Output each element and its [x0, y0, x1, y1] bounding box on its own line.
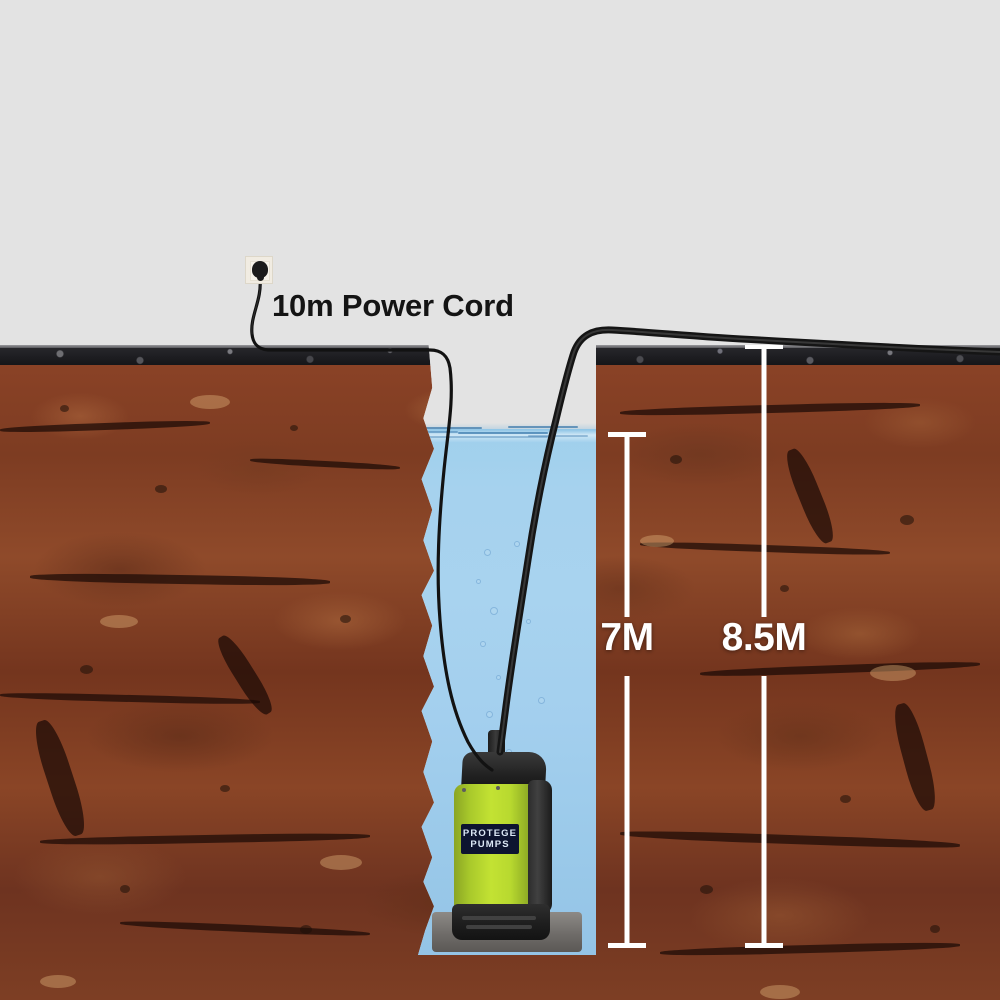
- brand-line-2: PUMPS: [470, 839, 509, 850]
- brand-line-1: PROTEGE: [463, 828, 517, 839]
- measurement-7m-bottom-cap: [608, 943, 646, 948]
- measurement-85m-upper-stem: [762, 344, 767, 617]
- pit-air-gap: [418, 345, 596, 433]
- measurement-85m: 8.5M: [744, 344, 784, 948]
- pump-side-panel: [528, 780, 552, 914]
- submersible-pump: PROTEGE PUMPS: [448, 752, 560, 944]
- measurement-7m-label: 7M: [600, 616, 653, 660]
- infographic-canvas: PROTEGE PUMPS 7M 8.5M POWERFUL 1HP MOTOR…: [0, 0, 1000, 1000]
- measurement-85m-bottom-cap: [745, 943, 783, 948]
- measurement-85m-label: 8.5M: [722, 616, 807, 660]
- measurement-85m-lower-stem: [762, 676, 767, 943]
- pump-intake-base: [452, 904, 550, 940]
- water-surface-line: [418, 423, 596, 443]
- measurement-7m-upper-stem: [625, 432, 630, 617]
- pump-brand-label: PROTEGE PUMPS: [461, 824, 519, 854]
- measurement-7m-lower-stem: [625, 676, 630, 943]
- measurement-7m: 7M: [607, 432, 647, 948]
- plug-nub-icon: [257, 272, 264, 281]
- power-cord-label: 10m Power Cord: [272, 288, 514, 324]
